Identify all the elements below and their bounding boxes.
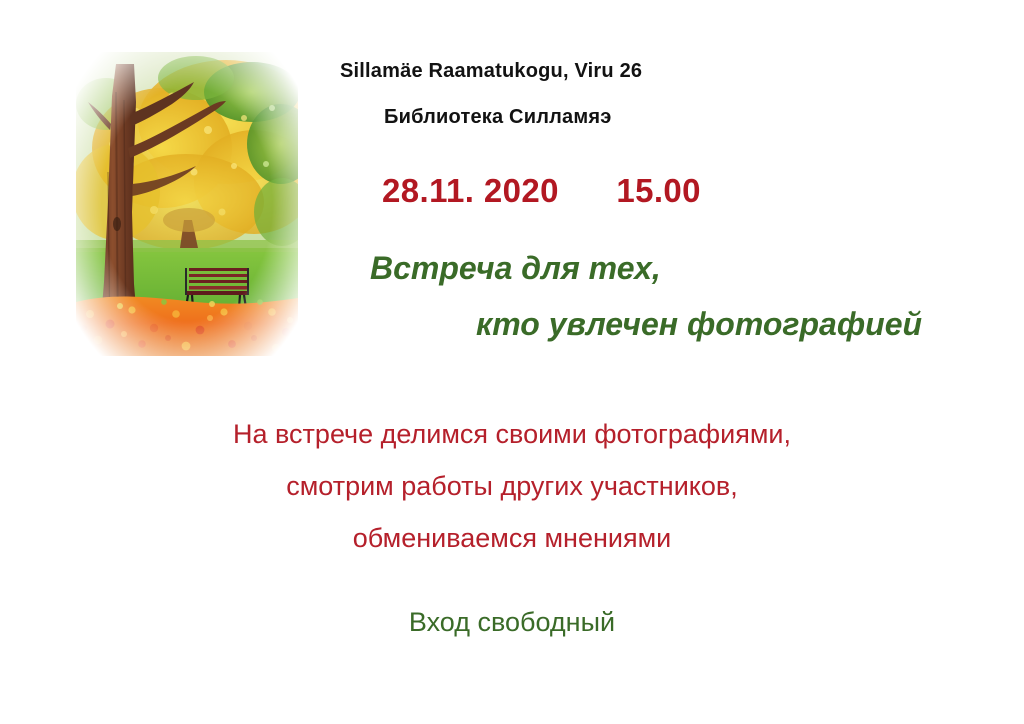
event-headline: Встреча для тех, кто увлечен фотографией [336,240,996,352]
event-description: На встрече делимся своими фотографиями, … [0,408,1024,564]
venue-name-russian: Библиотека Силламяэ [336,86,896,132]
venue-header: Sillamäe Raamatukogu, Viru 26 Библиотека… [336,56,896,132]
free-entry-note: Вход свободный [0,602,1024,642]
event-date-time: 28.11. 2020 15.00 [336,172,982,210]
autumn-park-illustration [76,52,298,356]
autumn-park-photo [76,52,298,356]
event-headline-line-2: кто увлечен фотографией [336,296,996,352]
event-headline-line-1: Встреча для тех, [336,240,996,296]
description-line-1: На встрече делимся своими фотографиями, [0,408,1024,460]
photo-frame [76,52,298,356]
venue-name-estonian: Sillamäe Raamatukogu, Viru 26 [336,56,896,86]
poster-canvas: Sillamäe Raamatukogu, Viru 26 Библиотека… [0,0,1024,724]
description-line-2: смотрим работы других участников, [0,460,1024,512]
description-line-3: обмениваемся мнениями [0,512,1024,564]
